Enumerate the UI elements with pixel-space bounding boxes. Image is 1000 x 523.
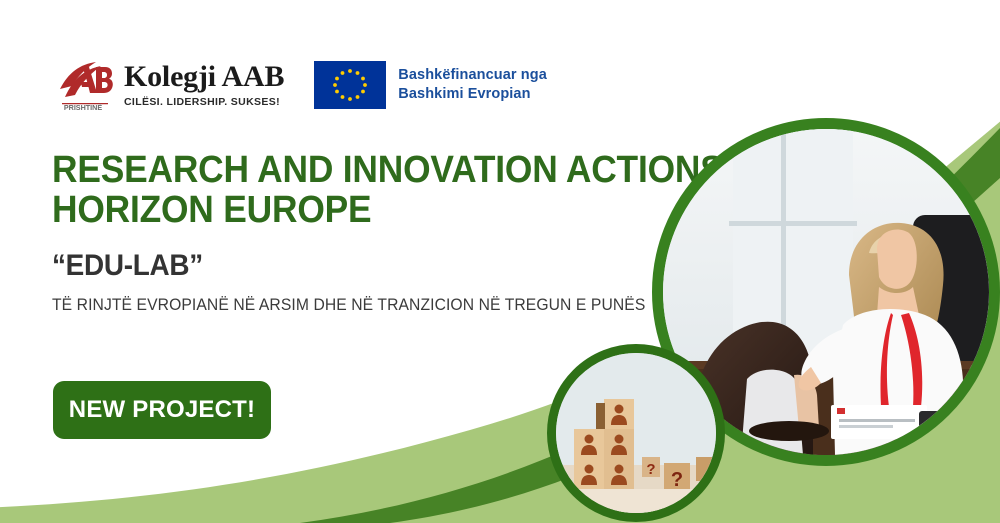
- aab-tagline: CILËSI. LIDERSHIP. SUKSES!: [124, 96, 284, 108]
- aab-monogram-icon: PRISHTINË: [52, 59, 114, 111]
- eu-text-line-2: Bashkimi Evropian: [398, 85, 547, 104]
- project-subtitle: TË RINJTË EVROPIANË NË ARSIM DHE NË TRAN…: [52, 296, 645, 315]
- eu-cofunding-text: Bashkëfinancuar nga Bashkimi Evropian: [398, 66, 547, 103]
- eu-flag-icon: [314, 61, 386, 109]
- headline: RESEARCH AND INNOVATION ACTIONS HORIZON …: [52, 150, 724, 231]
- eu-cofunding-block: Bashkëfinancuar nga Bashkimi Evropian: [314, 61, 547, 109]
- wooden-blocks-photo: ? ?: [547, 344, 725, 522]
- project-title: “EDU-LAB”: [52, 249, 203, 283]
- logo-row: PRISHTINË Kolegji AAB CILËSI. LIDERSHIP.…: [52, 58, 547, 112]
- promo-banner: PRISHTINË Kolegji AAB CILËSI. LIDERSHIP.…: [0, 0, 1000, 523]
- new-project-button[interactable]: NEW PROJECT!: [53, 381, 271, 439]
- svg-text:?: ?: [646, 461, 655, 478]
- aab-mark-caption: PRISHTINË: [64, 103, 103, 111]
- svg-text:?: ?: [671, 469, 683, 491]
- wooden-blocks-photo-image: ? ?: [556, 353, 716, 513]
- eu-text-line-1: Bashkëfinancuar nga: [398, 66, 547, 85]
- aab-wordmark: Kolegji AAB CILËSI. LIDERSHIP. SUKSES!: [124, 62, 284, 108]
- aab-name: Kolegji AAB: [124, 62, 284, 92]
